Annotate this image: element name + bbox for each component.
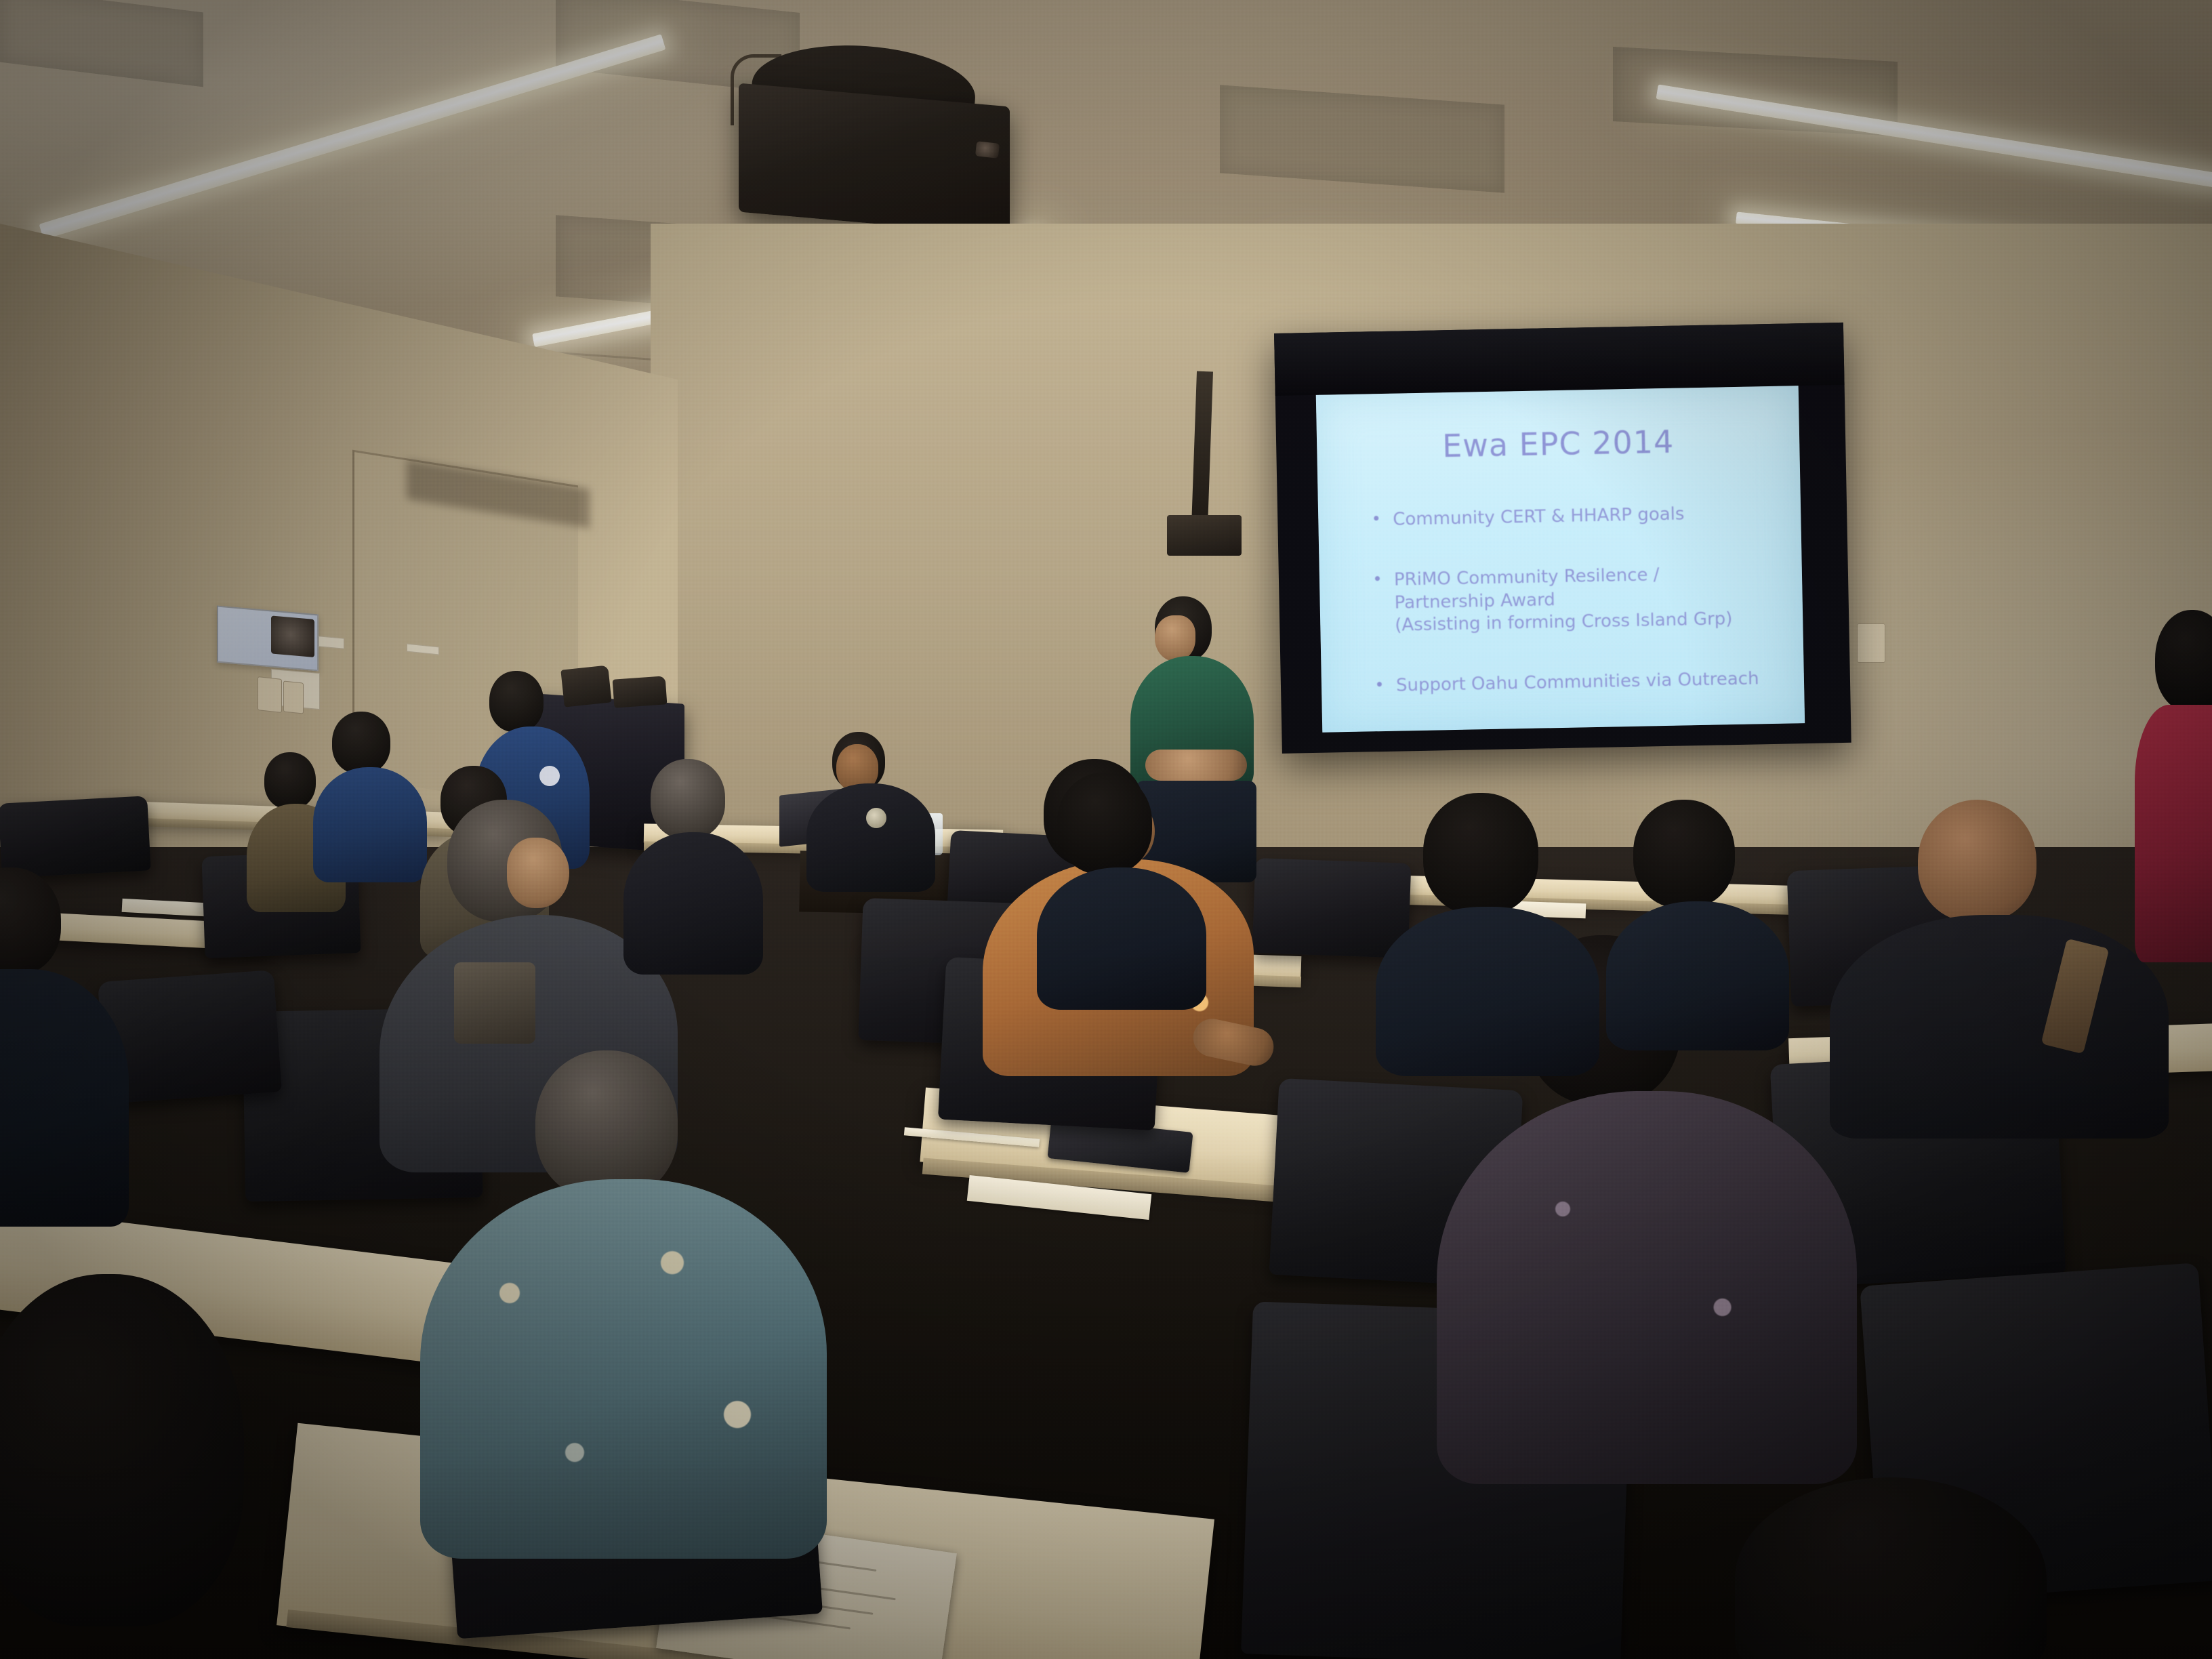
attendee-torso	[1606, 901, 1789, 1050]
slide-title: Ewa EPC 2014	[1357, 422, 1759, 466]
wall-poster	[217, 605, 319, 671]
screen-valance	[1274, 323, 1845, 396]
slide-bullet-text: PRiMO Community Resilence / Partnership …	[1394, 565, 1660, 613]
attendee-head	[1423, 793, 1538, 915]
attendee-head	[535, 1050, 678, 1200]
attendee-torso	[420, 1179, 827, 1559]
bullet-point-icon	[1377, 682, 1382, 687]
poster-graphic-icon	[271, 615, 314, 657]
attendee-torso	[1437, 1091, 1857, 1484]
attendee-badge-icon	[539, 766, 560, 786]
attendee-torso	[313, 767, 427, 882]
attendee-head	[489, 671, 544, 732]
slide-content: Ewa EPC 2014 Community CERT & HHARP goal…	[1316, 386, 1805, 733]
tee-graphic-icon	[454, 962, 535, 1044]
projector-icon	[739, 83, 1010, 236]
slide-bullet-text: Community CERT & HHARP goals	[1393, 504, 1685, 529]
attendee-torso	[1037, 867, 1206, 1010]
wall-note	[319, 636, 344, 649]
presenter-arms	[1145, 750, 1247, 781]
podium-equipment	[613, 676, 668, 708]
wall-speaker-icon	[1167, 515, 1242, 556]
slide-bullet-text: Volunteer in Makani Pahili 2014	[1397, 731, 1674, 733]
slide-bullet-item: Volunteer in Makani Pahili 2014	[1375, 729, 1765, 733]
slide-bullet-item: Community CERT & HHARP goals	[1371, 501, 1761, 531]
presenter-face	[1155, 615, 1195, 661]
chair	[1252, 858, 1412, 958]
projected-slide: Ewa EPC 2014 Community CERT & HHARP goal…	[1316, 386, 1805, 733]
attendee-head	[0, 1274, 244, 1626]
chair	[0, 796, 151, 878]
slide-bullet-list: Community CERT & HHARP goals PRiMO Commu…	[1359, 501, 1766, 732]
attendee-head	[1057, 773, 1152, 874]
attendee-head	[264, 752, 316, 809]
slide-bullet-item: PRiMO Community Resilence / Partnership …	[1372, 562, 1763, 638]
attendee-torso	[1830, 915, 2169, 1139]
attendee-head	[1633, 800, 1735, 908]
attendee-torso	[806, 783, 935, 892]
podium-equipment	[560, 665, 611, 707]
uniform-badge-icon	[866, 808, 886, 828]
attendee-torso	[2135, 705, 2212, 962]
projection-screen: Ewa EPC 2014 Community CERT & HHARP goal…	[1274, 323, 1851, 754]
power-outlet-icon	[258, 676, 282, 713]
attendee-head	[1918, 800, 2036, 922]
projector-lens-icon	[975, 141, 1000, 158]
classroom-presentation-photo: Ewa EPC 2014 Community CERT & HHARP goal…	[0, 0, 2212, 1659]
power-outlet-icon	[1857, 623, 1885, 663]
slide-bullet-item: Support Oahu Communities via Outreach	[1374, 668, 1764, 697]
attendee-torso	[623, 832, 763, 975]
attendee-head	[332, 712, 390, 774]
bullet-point-icon	[1374, 516, 1378, 520]
slide-bullet-text: Support Oahu Communities via Outreach	[1396, 668, 1759, 695]
bullet-point-icon	[1375, 576, 1380, 581]
power-outlet-icon	[283, 680, 304, 714]
attendee-torso	[1376, 907, 1599, 1076]
attendee-face	[507, 838, 569, 908]
attendee-head	[651, 759, 725, 839]
